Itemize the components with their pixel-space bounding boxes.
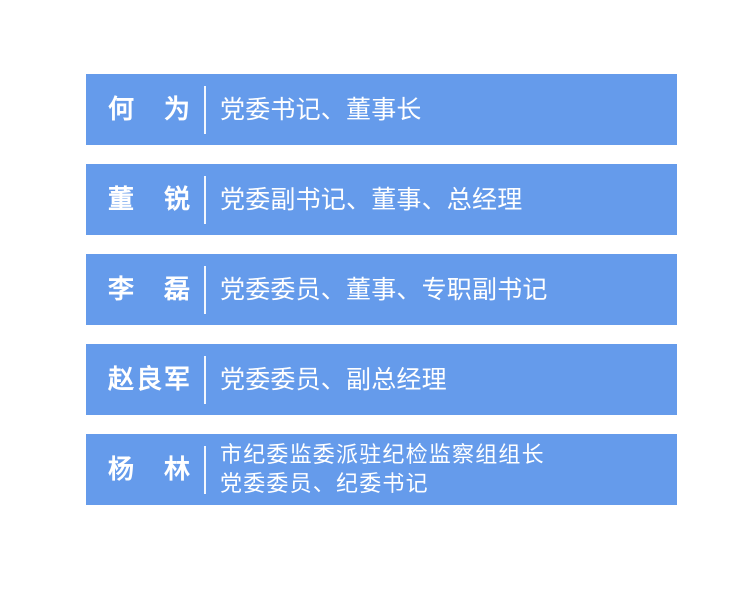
person-title: 党委委员、董事、专职副书记	[220, 276, 677, 304]
name-divider	[204, 86, 206, 134]
person-title: 党委副书记、董事、总经理	[220, 186, 677, 214]
roster-row: 董 锐 党委副书记、董事、总经理	[86, 164, 677, 235]
roster-row: 李 磊 党委委员、董事、专职副书记	[86, 254, 677, 325]
person-name: 董 锐	[108, 185, 204, 214]
person-name: 赵良军	[108, 365, 204, 394]
person-name: 李 磊	[108, 275, 204, 304]
roster-row: 赵良军 党委委员、副总经理	[86, 344, 677, 415]
roster-row: 杨 林 市纪委监委派驻纪检监察组组长 党委委员、纪委书记	[86, 434, 677, 505]
person-title: 党委书记、董事长	[220, 96, 677, 124]
roster-row: 何 为 党委书记、董事长	[86, 74, 677, 145]
name-divider	[204, 176, 206, 224]
name-divider	[204, 356, 206, 404]
person-name: 何 为	[108, 95, 204, 124]
person-title: 党委委员、副总经理	[220, 366, 677, 394]
name-divider	[204, 266, 206, 314]
leadership-roster: 何 为 党委书记、董事长 董 锐 党委副书记、董事、总经理 李 磊 党委委员、董…	[86, 74, 677, 505]
person-title: 市纪委监委派驻纪检监察组组长 党委委员、纪委书记	[220, 441, 677, 497]
person-name: 杨 林	[108, 455, 204, 484]
name-divider	[204, 446, 206, 494]
